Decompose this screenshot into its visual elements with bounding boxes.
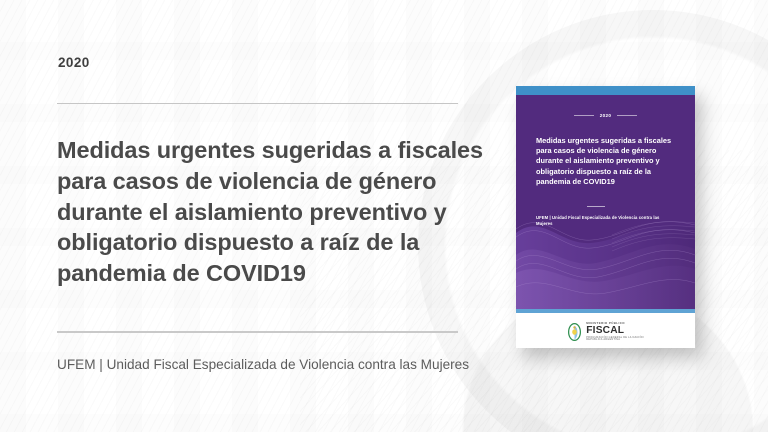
- document-thumbnail: 2020 Medidas urgentes sugeridas a fiscal…: [516, 86, 695, 348]
- divider-top: [57, 103, 458, 104]
- divider-bottom: [57, 331, 458, 333]
- slide-year: 2020: [58, 55, 90, 70]
- cover-year: 2020: [600, 113, 611, 118]
- cover-year-rule-left: [574, 115, 594, 116]
- page-title: Medidas urgentes sugeridas a fiscales pa…: [57, 135, 487, 289]
- fiscal-logo: MINISTERIO PÚBLICO FISCAL PROCURACIÓN GE…: [516, 322, 695, 342]
- argentina-shield-icon: [567, 322, 582, 342]
- cover-subtitle: UFEM | Unidad Fiscal Especializada de Vi…: [536, 215, 676, 228]
- logo-sub-lines: PROCURACIÓN GENERAL DE LA NACIÓN REPÚBLI…: [586, 337, 644, 342]
- cover-title: Medidas urgentes sugeridas a fiscales pa…: [536, 136, 678, 187]
- cover-body: 2020 Medidas urgentes sugeridas a fiscal…: [516, 95, 695, 309]
- cover-year-rule-right: [617, 115, 637, 116]
- cover-year-row: 2020: [516, 113, 695, 118]
- cover-top-band: [516, 86, 695, 95]
- cover-divider: [587, 206, 605, 207]
- slide-subtitle: UFEM | Unidad Fiscal Especializada de Vi…: [57, 355, 477, 374]
- logo-fiscal-word: FISCAL: [586, 326, 644, 336]
- logo-sub-line-2: REPÚBLICA ARGENTINA: [586, 339, 644, 342]
- slide-canvas: 2020 Medidas urgentes sugeridas a fiscal…: [0, 0, 768, 432]
- fiscal-logo-text: MINISTERIO PÚBLICO FISCAL PROCURACIÓN GE…: [586, 322, 644, 341]
